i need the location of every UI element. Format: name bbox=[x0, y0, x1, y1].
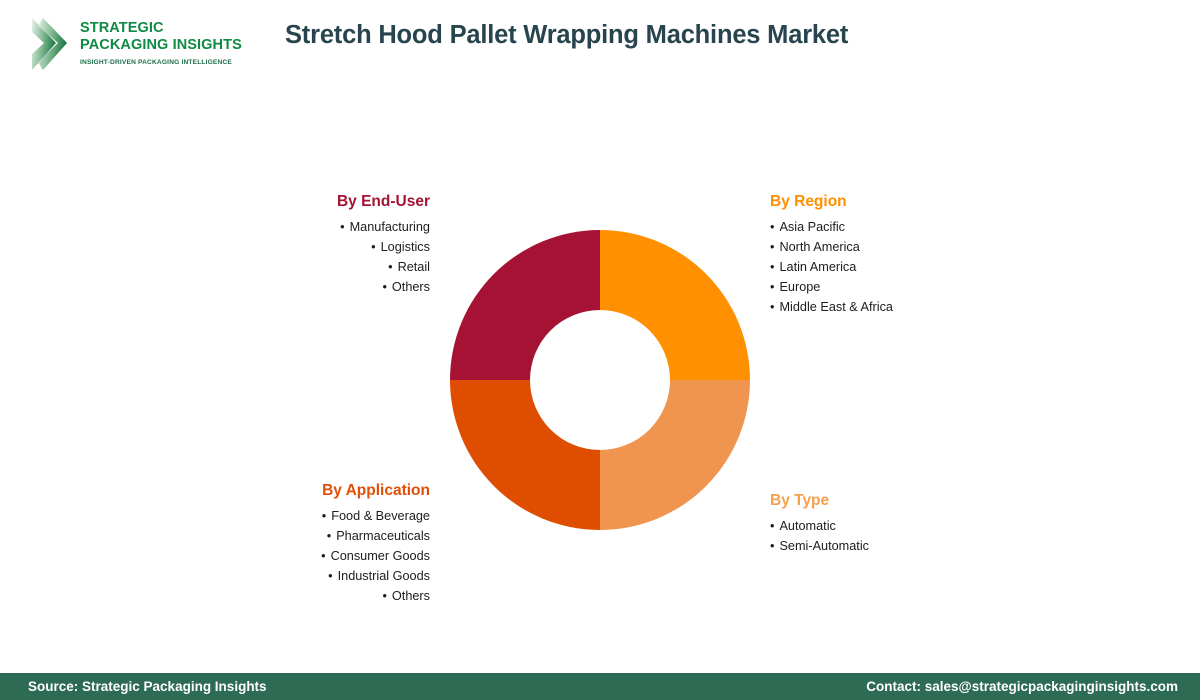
list-item: Latin America bbox=[770, 257, 1030, 277]
infographic-page: STRATEGIC PACKAGING INSIGHTS INSIGHT-DRI… bbox=[0, 0, 1200, 700]
donut-chart bbox=[450, 230, 750, 530]
category-type: By Type Automatic Semi-Automatic bbox=[770, 491, 1000, 556]
list-item: Industrial Goods bbox=[200, 566, 430, 586]
donut-hole bbox=[530, 310, 670, 450]
category-end-user: By End-User Manufacturing Logistics Reta… bbox=[240, 192, 430, 297]
list-item: Semi-Automatic bbox=[770, 536, 1000, 556]
category-type-title: By Type bbox=[770, 491, 1000, 511]
footer-source: Source: Strategic Packaging Insights bbox=[28, 673, 267, 700]
list-item: Asia Pacific bbox=[770, 217, 1030, 237]
list-item: Others bbox=[200, 586, 430, 606]
list-item: Consumer Goods bbox=[200, 546, 430, 566]
logo-tagline: INSIGHT-DRIVEN PACKAGING INTELLIGENCE bbox=[80, 59, 232, 66]
company-logo: STRATEGIC PACKAGING INSIGHTS INSIGHT-DRI… bbox=[26, 14, 212, 76]
list-item: North America bbox=[770, 237, 1030, 257]
list-item: Europe bbox=[770, 277, 1030, 297]
list-item: Food & Beverage bbox=[200, 506, 430, 526]
header: STRATEGIC PACKAGING INSIGHTS INSIGHT-DRI… bbox=[0, 0, 1200, 90]
footer-bar: Source: Strategic Packaging Insights Con… bbox=[0, 673, 1200, 700]
logo-line-1: STRATEGIC bbox=[80, 20, 242, 37]
list-item: Middle East & Africa bbox=[770, 297, 1030, 317]
list-item: Automatic bbox=[770, 516, 1000, 536]
chevron-logo-icon bbox=[26, 16, 74, 72]
category-region-list: Asia Pacific North America Latin America… bbox=[770, 217, 1030, 317]
category-application-list: Food & Beverage Pharmaceuticals Consumer… bbox=[200, 506, 430, 606]
category-end-user-title: By End-User bbox=[240, 192, 430, 212]
list-item: Pharmaceuticals bbox=[200, 526, 430, 546]
category-region-title: By Region bbox=[770, 192, 1030, 212]
logo-line-2: PACKAGING INSIGHTS bbox=[80, 37, 242, 54]
category-type-list: Automatic Semi-Automatic bbox=[770, 516, 1000, 556]
page-title: Stretch Hood Pallet Wrapping Machines Ma… bbox=[285, 21, 985, 50]
category-application-title: By Application bbox=[200, 481, 430, 501]
logo-wordmark: STRATEGIC PACKAGING INSIGHTS bbox=[80, 20, 242, 53]
donut-chart-svg bbox=[450, 230, 750, 530]
list-item: Logistics bbox=[240, 237, 430, 257]
category-region: By Region Asia Pacific North America Lat… bbox=[770, 192, 1030, 317]
footer-contact: Contact: sales@strategicpackaginginsight… bbox=[866, 673, 1178, 700]
list-item: Retail bbox=[240, 257, 430, 277]
list-item: Manufacturing bbox=[240, 217, 430, 237]
category-end-user-list: Manufacturing Logistics Retail Others bbox=[240, 217, 430, 297]
list-item: Others bbox=[240, 277, 430, 297]
category-application: By Application Food & Beverage Pharmaceu… bbox=[200, 481, 430, 606]
